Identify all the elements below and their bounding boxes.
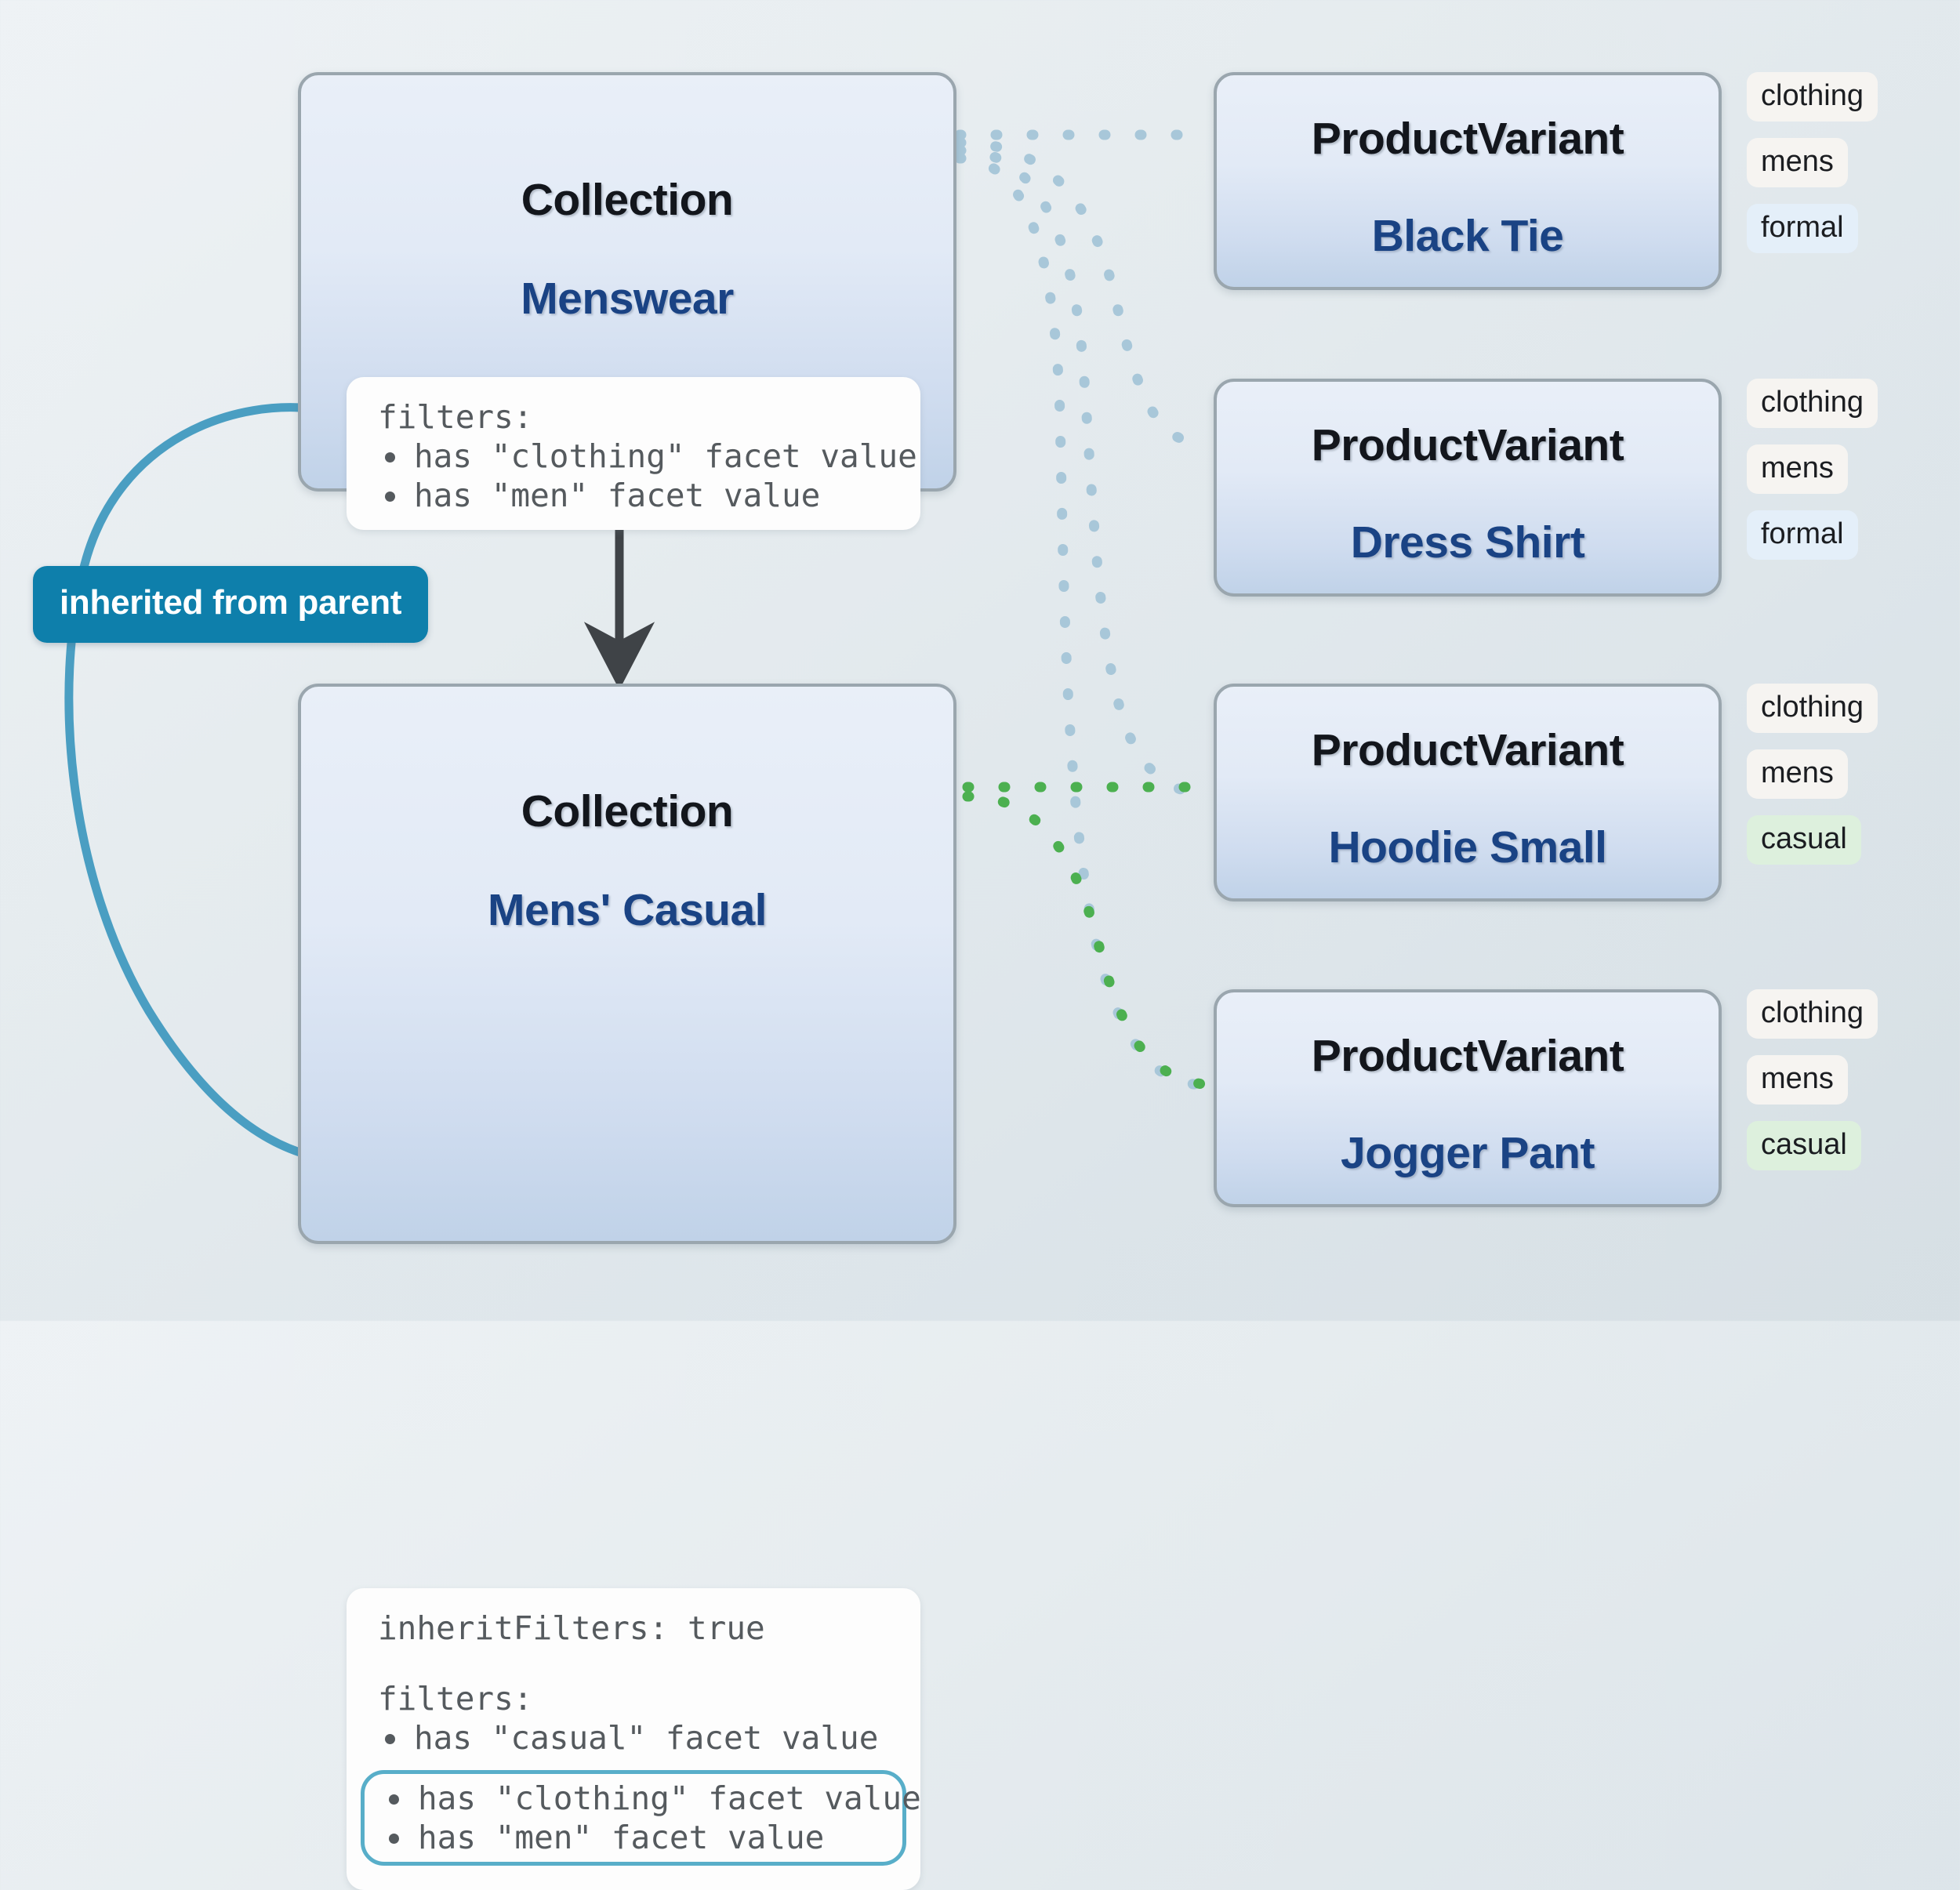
filter-item: has "men" facet value <box>378 476 920 515</box>
entity-name-label: Hoodie Small <box>1217 822 1719 873</box>
filters-key-label: filters: <box>347 397 920 437</box>
filters-key-label: filters: <box>347 1679 920 1718</box>
facet-tag: casual <box>1747 815 1861 865</box>
entity-type-label: ProductVariant <box>1217 1030 1719 1082</box>
product-variant-node-hoodie-small[interactable]: ProductVariant Hoodie Small <box>1214 684 1722 901</box>
product-variant-node-black-tie[interactable]: ProductVariant Black Tie <box>1214 72 1722 290</box>
collection-node-mens-casual[interactable]: Collection Mens' Casual inheritFilters: … <box>298 684 956 1244</box>
product-variant-node-jogger-pant[interactable]: ProductVariant Jogger Pant <box>1214 989 1722 1207</box>
facet-tag-list: clothing mens formal <box>1747 379 1927 576</box>
facet-tag: casual <box>1747 1121 1861 1170</box>
facet-tag-list: clothing mens formal <box>1747 72 1927 270</box>
entity-type-label: ProductVariant <box>1217 724 1719 776</box>
filter-item: has "casual" facet value <box>378 1718 920 1758</box>
entity-type-label: ProductVariant <box>1217 113 1719 165</box>
facet-tag: clothing <box>1747 379 1878 428</box>
filters-panel: inheritFilters: true filters: has "casua… <box>347 1588 920 1890</box>
entity-name-label: Dress Shirt <box>1217 517 1719 568</box>
inherited-filters-highlight: has "clothing" facet value has "men" fac… <box>361 1770 906 1866</box>
facet-tag: clothing <box>1747 72 1878 122</box>
filters-panel: filters: has "clothing" facet value has … <box>347 377 920 530</box>
dotted-link-menswear <box>960 135 1204 1085</box>
entity-type-label: ProductVariant <box>1217 419 1719 471</box>
facet-tag: mens <box>1747 749 1848 799</box>
facet-tag-list: clothing mens casual <box>1747 684 1927 881</box>
dotted-link-mens-casual <box>967 787 1207 1085</box>
panel-spacer <box>347 1648 920 1679</box>
filter-item: has "clothing" facet value <box>382 1779 902 1818</box>
entity-name-label: Black Tie <box>1217 210 1719 262</box>
facet-tag: mens <box>1747 444 1848 494</box>
facet-tag: mens <box>1747 138 1848 187</box>
filter-list: has "clothing" facet value has "men" fac… <box>347 437 920 515</box>
inherited-filter-list: has "clothing" facet value has "men" fac… <box>365 1779 902 1857</box>
entity-name-label: Mens' Casual <box>301 884 953 936</box>
facet-tag: formal <box>1747 510 1858 560</box>
entity-name-label: Menswear <box>301 273 953 325</box>
collection-node-menswear[interactable]: Collection Menswear filters: has "clothi… <box>298 72 956 492</box>
inherit-filters-label: inheritFilters: true <box>347 1609 920 1648</box>
product-variant-node-dress-shirt[interactable]: ProductVariant Dress Shirt <box>1214 379 1722 597</box>
entity-type-label: Collection <box>301 785 953 837</box>
filter-item: has "men" facet value <box>382 1818 902 1857</box>
inherited-from-parent-badge: inherited from parent <box>33 566 428 643</box>
facet-tag-list: clothing mens casual <box>1747 989 1927 1187</box>
facet-tag: mens <box>1747 1055 1848 1105</box>
filter-list: has "casual" facet value <box>347 1718 920 1758</box>
entity-type-label: Collection <box>301 174 953 226</box>
entity-name-label: Jogger Pant <box>1217 1127 1719 1179</box>
diagram-canvas: Collection Menswear filters: has "clothi… <box>0 0 1960 1321</box>
facet-tag: formal <box>1747 204 1858 253</box>
facet-tag: clothing <box>1747 989 1878 1039</box>
facet-tag: clothing <box>1747 684 1878 733</box>
filter-item: has "clothing" facet value <box>378 437 920 476</box>
